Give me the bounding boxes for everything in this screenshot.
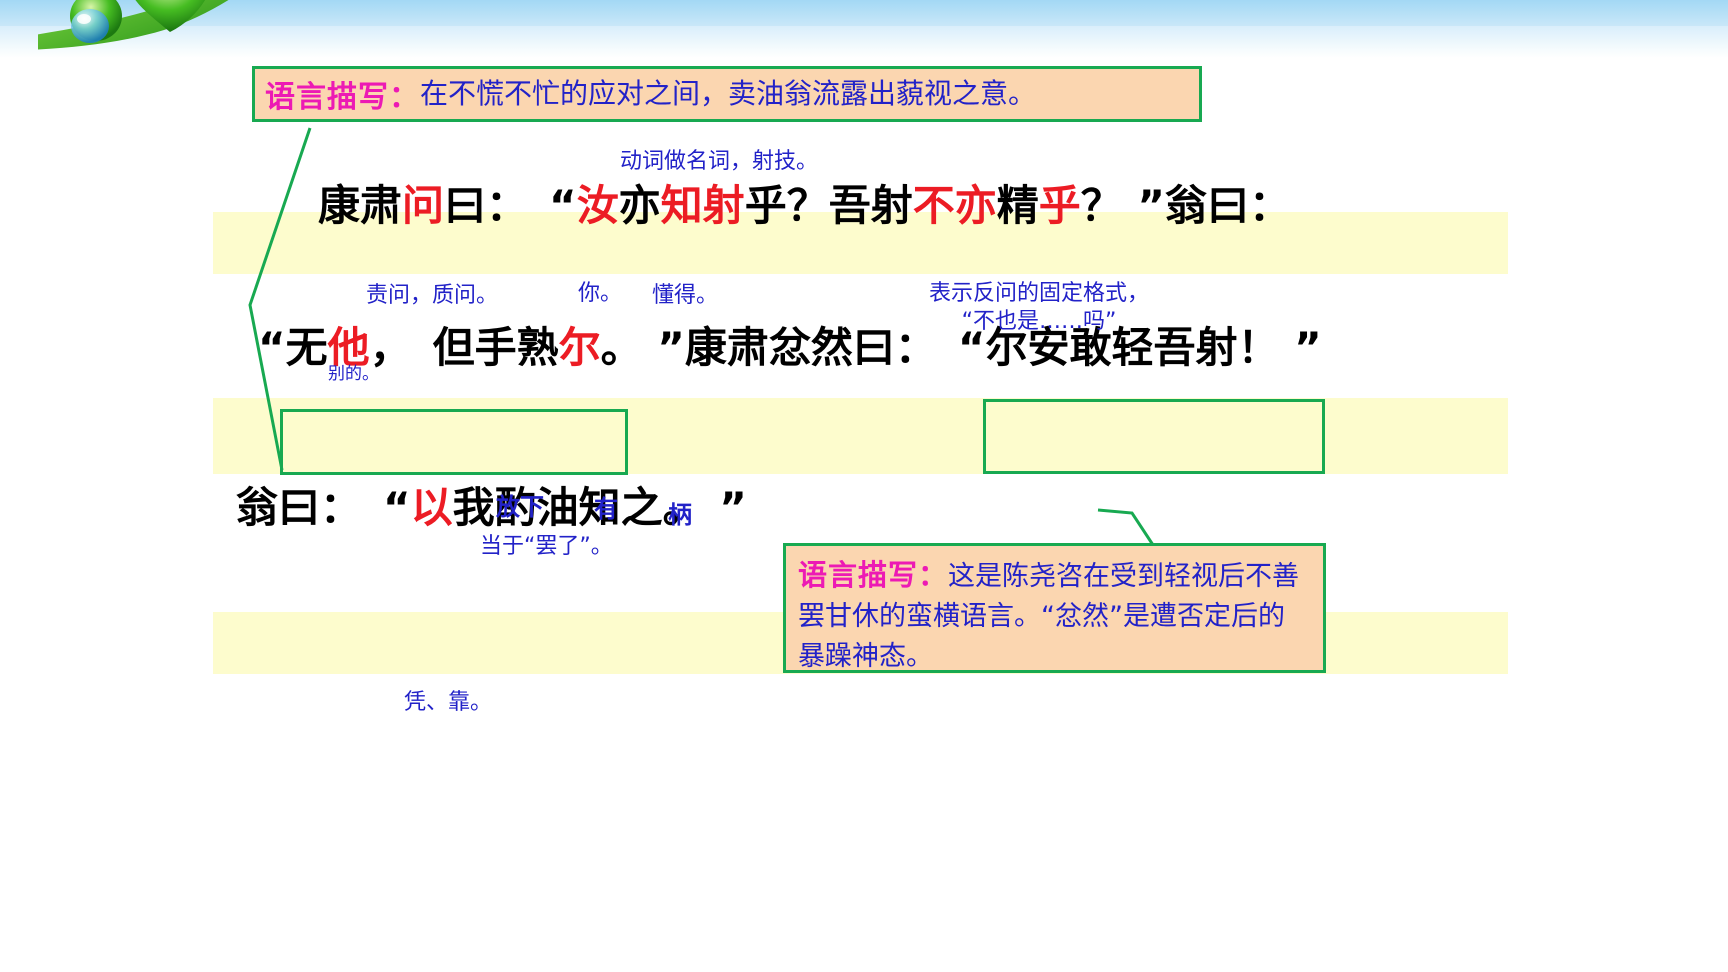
gloss-eryi: 当于“罢了”。 [480,532,613,562]
gloss-question: 责问，质问。 [366,281,498,311]
text-segment: ？ ”翁曰： [1081,181,1291,230]
text-segment: 亦 [619,181,661,230]
green-outline-box-left [280,409,628,475]
text-segment: 曰： “ [444,181,577,230]
gloss-rhetorical: 表示反问的固定格式， “不也是……吗” [894,279,1184,337]
text-segment: 以 [411,483,453,532]
text-segment: 乎？吾射 [745,181,913,230]
text-segment: 精 [997,181,1039,230]
overlay-char-c: 柄 [668,495,692,530]
text-segment: 不亦 [913,181,997,230]
gloss-shooting: 动词做名词，射技。 [620,147,818,177]
callout-bottom-tag: 语言描写： [798,558,948,592]
callout-language-description-top: 语言描写： 在不慌不忙的应对之间，卖油翁流露出藐视之意。 [252,66,1202,122]
green-outline-box-right [983,399,1325,474]
gloss-rhetorical-line1: 表示反问的固定格式， [929,281,1149,306]
gloss-other: 别的。 [328,359,379,389]
text-segment: 汝 [577,181,619,230]
overlay-char-a: 放下 [496,487,544,522]
gloss-rhetorical-line2: “不也是……吗” [894,307,1184,337]
text-segment: 问 [402,181,444,230]
callout-language-description-bottom: 语言描写：这是陈尧咨在受到轻视后不善罢甘休的蛮横语言。“忿然”是遭否定后的暴躁神… [783,543,1326,673]
text-segment: ， 但手熟 [370,323,559,372]
overlay-char-b: 有 [594,489,618,524]
gloss-you: 你。 [578,279,622,309]
gloss-understand: 懂得。 [652,281,718,311]
callout-top-tag: 语言描写： [265,72,420,116]
text-segment: “无 [258,323,328,372]
text-segment: 翁曰： “ [236,483,411,532]
text-segment: 康肃 [318,181,402,230]
leaf-dewdrop-decoration-icon [38,0,268,88]
classical-text-line-1: 康肃问曰： “汝亦知射乎？吾射不亦精乎？ ”翁曰： [318,180,1291,232]
text-segment: 尔 [559,323,601,372]
slide-canvas: 语言描写： 在不慌不忙的应对之间，卖油翁流露出藐视之意。 语言描写：这是陈尧咨在… [0,0,1728,972]
text-segment: 乎 [1039,181,1081,230]
callout-top-body: 在不慌不忙的应对之间，卖油翁流露出藐视之意。 [420,74,1036,114]
text-segment: 知射 [661,181,745,230]
gloss-rely: 凭、靠。 [404,688,492,718]
